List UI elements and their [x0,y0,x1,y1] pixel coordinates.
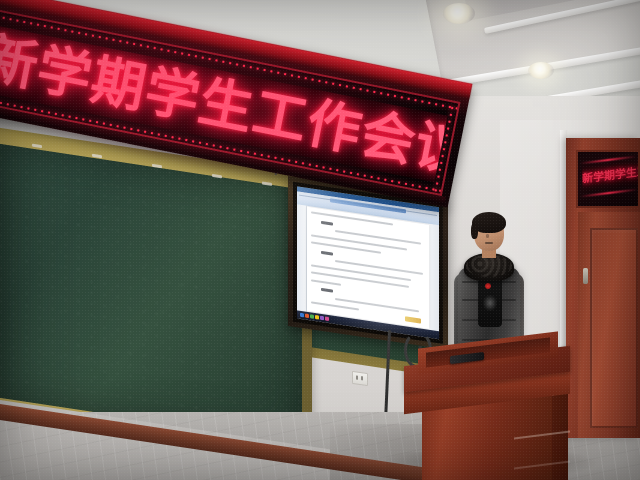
outlet-slot [356,375,358,379]
document-text-line [311,271,409,287]
taskbar-icon[interactable] [320,316,324,321]
fur-collar-texture [466,255,512,277]
document-text-line [335,260,423,275]
taskbar-icon[interactable] [310,314,314,319]
door-raised-panel [590,228,638,428]
taskbar-icon[interactable] [315,315,319,320]
wooden-lectern [396,338,586,480]
document-heading-line [321,220,333,225]
document-text-line [311,279,341,285]
document-text-line [311,301,359,310]
document-left-margin [297,204,307,311]
chalkboard-clip [32,144,42,149]
taskbar-icon[interactable] [325,316,329,321]
document-heading-line [321,288,333,293]
document-scrollbar[interactable] [430,224,439,331]
transom-banner-reflection: 新学期学生工作会议 [582,156,640,193]
door-transom-glass: 新学期学生工作会议 [576,150,640,208]
outlet-slot [361,376,363,380]
tshirt-red-logo [485,283,491,289]
hair-sideburn [471,223,478,239]
word-document-page[interactable] [307,207,429,329]
document-text-line [335,297,419,311]
door-handle[interactable] [583,268,588,284]
ceiling-downlight-1 [443,3,475,24]
taskbar-icon[interactable] [305,314,309,319]
document-heading-line [321,250,333,255]
classroom-photo-scene: 新学期学生工作会议 新学期学生工作会议 [0,0,640,480]
chalkboard-texture [0,144,302,444]
mouth [485,242,493,244]
nose [486,234,489,238]
wall-power-outlet [352,371,368,386]
ceiling-downlight-2 [528,62,554,79]
document-text-line [335,230,421,245]
taskbar-icon[interactable] [300,313,304,318]
tshirt-graphic [483,295,497,311]
